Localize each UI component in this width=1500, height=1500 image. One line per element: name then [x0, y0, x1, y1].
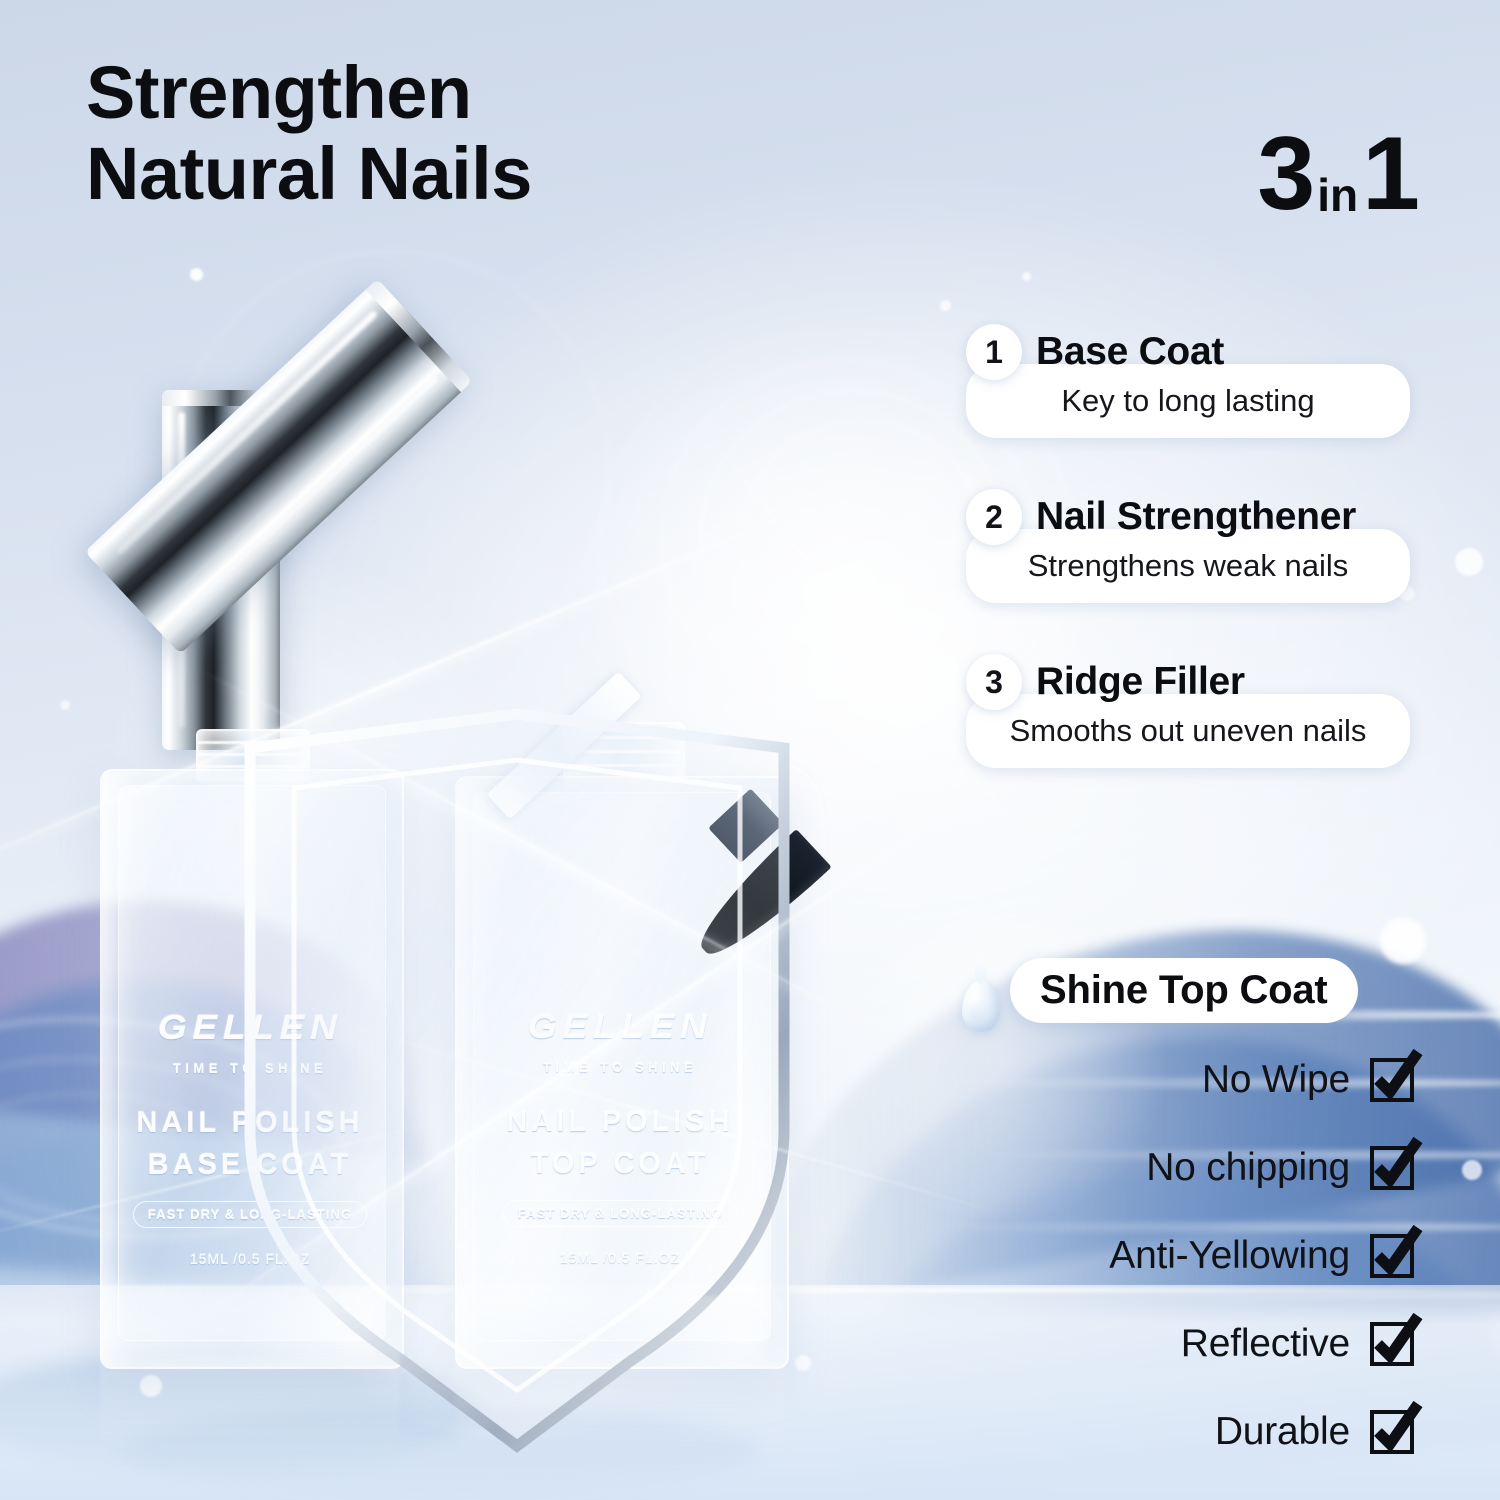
product-marketing-image: GELLEN TIME TO SHINE NAIL POLISH BASE CO…	[0, 0, 1500, 1500]
checklist-item-no-chipping: No chipping	[942, 1132, 1412, 1204]
checkbox-checked-icon	[1372, 1060, 1412, 1100]
checklist-item-no-wipe: No Wipe	[942, 1044, 1412, 1116]
badge-number-one: 1	[1362, 130, 1418, 219]
feature-number-badge: 3	[966, 654, 1022, 710]
brush-bristles	[687, 829, 832, 969]
feature-title: Ridge Filler	[1036, 660, 1245, 704]
polish-droplet	[962, 980, 1000, 1032]
checklist-label: Reflective	[1181, 1322, 1350, 1366]
checkbox-checked-icon	[1372, 1324, 1412, 1364]
badge-number-three: 3	[1257, 130, 1313, 219]
label-claim-top: FAST DRY & LONG-LASTING	[503, 1200, 737, 1227]
headline-line-1: Strengthen	[86, 52, 532, 133]
feature-item-base-coat: 1 Base Coat Key to long lasting	[966, 322, 1410, 438]
label-title1-base: NAIL POLISH	[100, 1107, 400, 1140]
label-claim-base: FAST DRY & LONG-LASTING	[133, 1201, 367, 1228]
headline-line-2: Natural Nails	[86, 133, 532, 214]
checklist-label: No Wipe	[1202, 1058, 1350, 1102]
three-in-one-badge: 3 in 1	[1257, 130, 1418, 219]
badge-word-in: in	[1313, 176, 1362, 220]
checklist-label: Durable	[1215, 1410, 1350, 1454]
feature-number-badge: 1	[966, 324, 1022, 380]
checklist-item-durable: Durable	[942, 1396, 1412, 1468]
feature-item-nail-strengthener: 2 Nail Strengthener Strengthens weak nai…	[966, 487, 1410, 603]
page-headline: Strengthen Natural Nails	[86, 52, 532, 215]
feature-item-ridge-filler: 3 Ridge Filler Smooths out uneven nails	[966, 652, 1410, 768]
feature-title: Base Coat	[1036, 330, 1224, 374]
checklist-label: No chipping	[1146, 1146, 1350, 1190]
checklist-item-anti-yellowing: Anti-Yellowing	[942, 1220, 1412, 1292]
label-volume-base: 15ML /0.5 FL.OZ	[100, 1251, 400, 1267]
label-title2-top: TOP COAT	[455, 1148, 785, 1181]
shine-top-coat-heading: Shine Top Coat	[1010, 958, 1358, 1023]
top-coat-checklist: No Wipe No chipping Anti-Yellowing Refle…	[942, 1044, 1412, 1484]
checkbox-checked-icon	[1372, 1148, 1412, 1188]
brush-stem	[487, 672, 642, 820]
bottle-reflections	[0, 1288, 900, 1478]
checklist-item-reflective: Reflective	[942, 1308, 1412, 1380]
label-title2-base: BASE COAT	[100, 1149, 400, 1182]
label-title1-top: NAIL POLISH	[455, 1106, 785, 1139]
checklist-label: Anti-Yellowing	[1109, 1234, 1350, 1278]
feature-number-badge: 2	[966, 489, 1022, 545]
checkbox-checked-icon	[1372, 1236, 1412, 1276]
checkbox-checked-icon	[1372, 1412, 1412, 1452]
feature-title: Nail Strengthener	[1036, 495, 1356, 539]
label-volume-top: 15ML /0.5 FL.OZ	[455, 1250, 785, 1266]
